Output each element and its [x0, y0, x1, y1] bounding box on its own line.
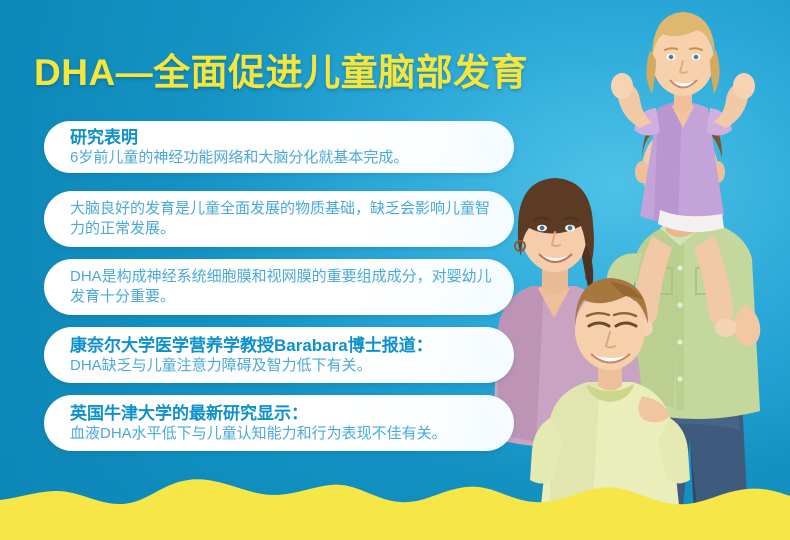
info-pill-2: 大脑良好的发育是儿童全面发展的物质基础，缺乏会影响儿童智力的正常发展。: [44, 191, 514, 247]
info-pill-5-heading: 英国牛津大学的最新研究显示：: [70, 404, 498, 424]
info-pill-5-body: 血液DHA水平低下与儿童认知能力和行为表现不佳有关。: [70, 424, 498, 443]
info-pill-3-body: DHA是构成神经系统细胞膜和视网膜的重要组成成分，对婴幼儿发育十分重要。: [70, 267, 498, 307]
info-pill-1: 研究表明 6岁前儿童的神经功能网络和大脑分化就基本完成。: [44, 121, 514, 173]
info-pill-4-heading: 康奈尔大学医学营养学教授Barabara博士报道：: [70, 336, 498, 356]
yellow-wave-footer: [0, 470, 790, 540]
info-pill-2-body: 大脑良好的发育是儿童全面发展的物质基础，缺乏会影响儿童智力的正常发展。: [70, 199, 498, 239]
info-pill-4: 康奈尔大学医学营养学教授Barabara博士报道： DHA缺乏与儿童注意力障碍及…: [44, 327, 514, 383]
info-pill-4-body: DHA缺乏与儿童注意力障碍及智力低下有关。: [70, 356, 498, 375]
info-pill-3: DHA是构成神经系统细胞膜和视网膜的重要组成成分，对婴幼儿发育十分重要。: [44, 259, 514, 315]
page-title: DHA—全面促进儿童脑部发育: [34, 42, 528, 96]
info-pill-5: 英国牛津大学的最新研究显示： 血液DHA水平低下与儿童认知能力和行为表现不佳有关…: [44, 395, 514, 451]
info-pill-1-body: 6岁前儿童的神经功能网络和大脑分化就基本完成。: [70, 148, 498, 167]
info-pill-1-heading: 研究表明: [70, 128, 498, 148]
family-photo: [490, 0, 790, 515]
dha-promo-banner: DHA—全面促进儿童脑部发育 研究表明 6岁前儿童的神经功能网络和大脑分化就基本…: [0, 0, 790, 540]
